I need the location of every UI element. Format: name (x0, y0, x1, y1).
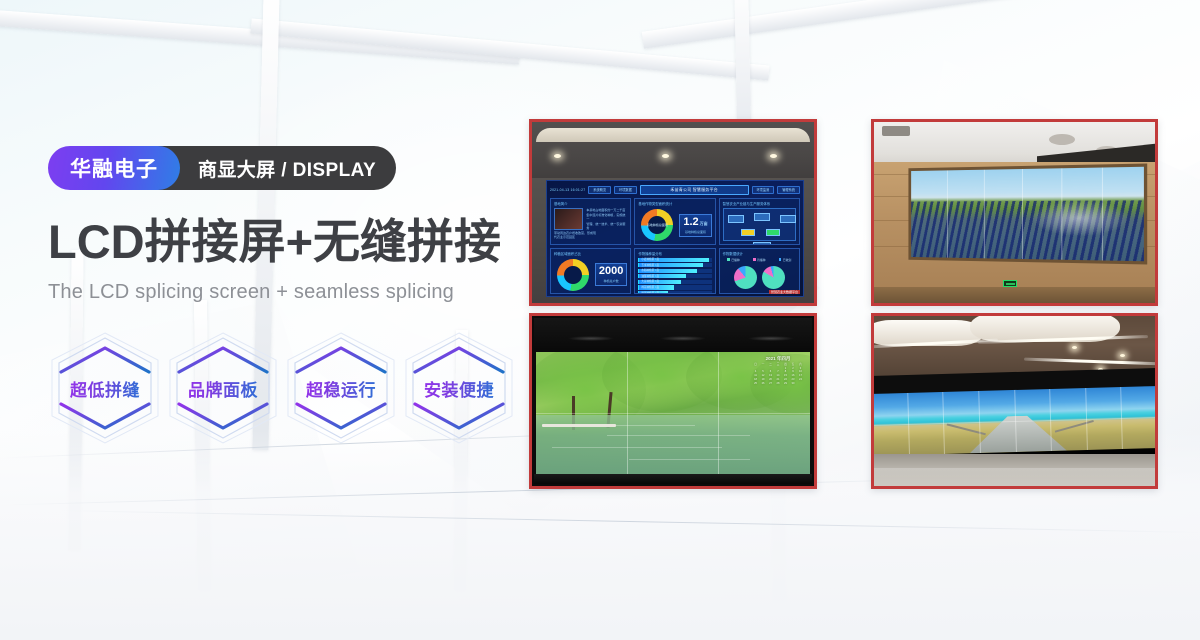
ceiling-spotlight (554, 154, 561, 158)
bar-row: 水稻种植区 / 亩 (638, 269, 711, 273)
dashboard-card-area: 基地作物类型面积统计 基地种植总面积 1.2万亩 基地种植总面积 粮食 520 (634, 198, 715, 245)
bar-row: 小麦种植区 / 亩 (638, 258, 711, 262)
ceiling-vent (882, 126, 910, 136)
ceiling-speaker (1049, 134, 1075, 145)
donut-center-label: 基地种植总面积 (641, 209, 673, 241)
feature-badge-list: 超低拼缝 品牌面板 (46, 332, 518, 444)
ceiling-downlight (1072, 346, 1077, 349)
pie-chart (734, 266, 757, 289)
legend-item: 已收割 (779, 258, 791, 262)
bg-floor-line (0, 477, 980, 505)
feature-badge-0[interactable]: 超低拼缝 (46, 332, 164, 444)
ceiling (532, 122, 814, 184)
bar-row: 油菜种植区 / 亩 (638, 274, 711, 278)
ceiling-downlight (1120, 354, 1125, 357)
feature-label: 品牌面板 (188, 376, 258, 401)
promo-banner: 华融电子 商显大屏 / DISPLAY LCD拼接屏+无缝拼接 The LCD … (0, 0, 1200, 640)
kpi-value: 2000 (599, 266, 623, 277)
feature-badge-3[interactable]: 安装便捷 (400, 332, 518, 444)
card-title: 基地作物类型面积统计 (638, 201, 711, 206)
dashboard-card-flow: 智慧农业产业链与生产服务体系 (719, 198, 800, 245)
flow-diagram (723, 208, 796, 241)
dashboard-card-intro: 基地简介 本基地占地面积约一万二千亩 集中连片标准化种植，实施统一 管理、统一技… (550, 198, 631, 245)
donut-chart: 基地种植总面积 (641, 209, 673, 241)
legend-item: 药材基地中心 900 亩 (663, 244, 693, 245)
feature-label: 超低拼缝 (70, 376, 140, 401)
brand-name-pill: 华融电子 (48, 146, 180, 190)
ceiling-reflection (568, 336, 614, 341)
kpi-caption: 基地种植总面积 (683, 230, 707, 234)
kpi-caption: 种植总户数 (599, 279, 623, 283)
product-photo-beach-lobby[interactable] (871, 313, 1158, 489)
dashboard-title: 禾苗青公司 智慧服务平台 (640, 185, 749, 195)
dashboard-card-pies: 作物数据统计 已播种 待播种 已收割 (719, 248, 800, 295)
flow-node (754, 213, 770, 221)
page-subtitle: The LCD splicing screen + seamless splic… (48, 281, 518, 304)
legend-item: 粮食 5200 亩 (638, 244, 658, 245)
product-photo-solar-corridor[interactable] (871, 119, 1158, 306)
railing (542, 424, 616, 427)
dashboard-card-region: 种植区域面积占比 2000 种植总户数 东区 中心区 西区 (550, 248, 631, 295)
dashboard-nav-button[interactable]: 管理系统 (777, 186, 800, 194)
flow-node (753, 242, 771, 245)
ceiling-spotlight (770, 154, 777, 158)
bar-row: 棉花种植区 / 亩 (638, 285, 711, 289)
pie-chart-group (723, 266, 796, 289)
pie-chart (762, 266, 785, 289)
bar-row: 大豆种植区 / 亩 (638, 280, 711, 284)
legend-item: 南区 (598, 294, 608, 295)
flow-node (728, 215, 744, 223)
dashboard-nav-button[interactable]: 系统概览 (588, 186, 611, 194)
bg-beam (642, 0, 1200, 49)
dashboard-nav-button[interactable]: 环境数据 (614, 186, 637, 194)
brand-name-label: 华融电子 (70, 153, 158, 183)
bg-beam (0, 8, 520, 65)
chart-legend: 粮食 5200 亩 药材基地中心 900 亩 果蔬 3100 亩 智慧农业大棚示… (638, 244, 711, 245)
bg-beam (250, 18, 769, 80)
kpi-box: 1.2万亩 基地种植总面积 (679, 214, 711, 237)
donut-chart (557, 259, 589, 291)
exit-sign (1003, 280, 1017, 287)
chart-legend: 东区 中心区 西区 南区 北区 示范区 (554, 294, 627, 295)
bg-floor-line (60, 510, 1200, 533)
flow-node (766, 229, 780, 236)
card-line: 代农业示范园区 (554, 235, 627, 240)
ceiling-reflection (748, 336, 794, 341)
dashboard-watermark: 智慧农业大数据平台 (769, 290, 800, 294)
dashboard-topbar: 2021-04-13 16:01:27 系统概览 环境数据 禾苗青公司 智慧服务… (550, 184, 800, 195)
bar-row: 果蔬种植区 / 亩 (638, 291, 711, 294)
brand-badge: 华融电子 商显大屏 / DISPLAY (48, 146, 396, 190)
product-photo-lake-videowall[interactable]: 2021 年四月 日一 二三 四五 六 123 45678910 1112131… (529, 313, 817, 489)
hero-text-block: 华融电子 商显大屏 / DISPLAY LCD拼接屏+无缝拼接 The LCD … (48, 146, 518, 304)
legend-item: 北区 (611, 294, 621, 295)
dashboard-screen: 2021-04-13 16:01:27 系统概览 环境数据 禾苗青公司 智慧服务… (546, 180, 804, 297)
calendar-overlay: 2021 年四月 日一 二三 四五 六 123 45678910 1112131… (752, 356, 804, 386)
feature-label: 安装便捷 (424, 376, 494, 401)
ceiling-spotlight (662, 154, 669, 158)
legend-item: 中心区 (568, 294, 580, 295)
legend-item: 已播种 (727, 258, 739, 262)
videowall-content-beach (874, 386, 1155, 456)
page-title: LCD拼接屏+无缝拼接 (48, 216, 518, 269)
wall-base (874, 287, 1155, 303)
ceiling-reflection (660, 336, 706, 341)
bar-chart: 小麦种植区 / 亩 玉米种植区 / 亩 水稻种植区 / 亩 油菜种植区 / 亩 … (638, 258, 711, 295)
legend-item: 东区 (554, 294, 564, 295)
kpi-box: 2000 种植总户数 (595, 263, 627, 286)
thumbnail-image (554, 208, 583, 230)
dashboard-grid: 基地简介 本基地占地面积约一万二千亩 集中连片标准化种植，实施统一 管理、统一技… (550, 198, 800, 294)
videowall-content-lake: 2021 年四月 日一 二三 四五 六 123 45678910 1112131… (536, 352, 810, 474)
calendar-title: 2021 年四月 (752, 356, 804, 362)
feature-badge-1[interactable]: 品牌面板 (164, 332, 282, 444)
category-label: 商显大屏 / DISPLAY (198, 155, 376, 182)
legend-item: 待播种 (753, 258, 765, 262)
flow-node (780, 215, 796, 223)
feature-badge-2[interactable]: 超稳运行 (282, 332, 400, 444)
dashboard-card-bars: 作物播种量分布 小麦种植区 / 亩 玉米种植区 / 亩 水稻种植区 / 亩 油菜… (634, 248, 715, 295)
calendar-days: 123 45678910 11121314151617 181920212223… (752, 367, 804, 386)
videowall-content-solar-farm (911, 167, 1144, 261)
railing (1055, 420, 1094, 432)
videowall-frame (908, 164, 1147, 265)
screen-bezel-bottom (534, 474, 812, 484)
screen-glare (1031, 199, 1128, 237)
ceiling-cove-light (536, 128, 810, 142)
card-title: 基地简介 (554, 201, 627, 206)
card-title: 作物数据统计 (723, 251, 796, 256)
legend-item: 西区 (584, 294, 594, 295)
product-photo-dashboard[interactable]: 2021-04-13 16:01:27 系统概览 环境数据 禾苗青公司 智慧服务… (529, 119, 817, 306)
kpi-unit: 万亩 (700, 221, 708, 226)
screen-bezel-top (534, 318, 812, 350)
flow-node (741, 229, 755, 236)
dashboard-nav-button[interactable]: 环境监测 (752, 186, 775, 194)
floor-reflection (874, 468, 1155, 486)
card-title: 种植区域面积占比 (554, 251, 627, 256)
floor (874, 454, 1155, 486)
dashboard-timestamp: 2021-04-13 16:01:27 (550, 188, 585, 192)
videowall-assembly (874, 368, 1155, 468)
bar-row: 玉米种植区 / 亩 (638, 263, 711, 267)
card-title: 作物播种量分布 (638, 251, 711, 256)
feature-label: 超稳运行 (306, 376, 376, 401)
chart-legend: 已播种 待播种 已收割 (723, 258, 796, 262)
card-title: 智慧农业产业链与生产服务体系 (723, 201, 796, 206)
kpi-value: 1.2万亩 (683, 217, 707, 228)
